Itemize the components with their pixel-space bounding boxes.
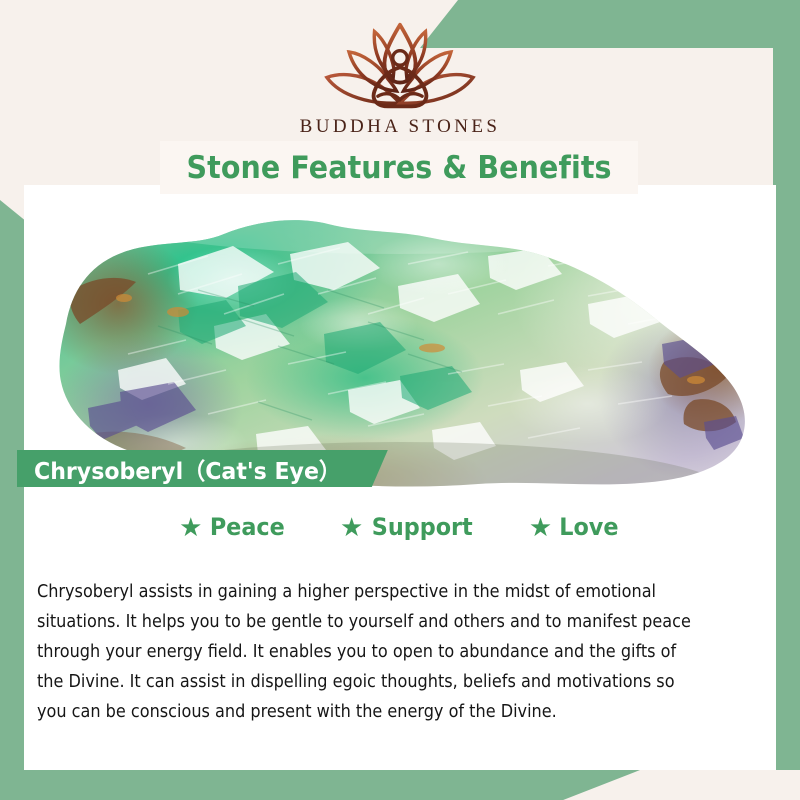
star-icon: ★ [340,514,363,540]
star-icon: ★ [179,514,202,540]
benefit-label: Support [372,513,473,541]
title-banner: Stone Features & Benefits [160,141,638,194]
benefit-item-love: ★ Love [529,513,621,541]
benefit-label: Love [559,513,618,541]
frame-accent-bottom [0,770,640,800]
benefit-item-support: ★ Support [340,513,477,541]
brand-name: BUDDHA STONES [0,116,800,138]
page-title: Stone Features & Benefits [186,150,611,186]
star-icon: ★ [529,514,552,540]
benefits-row: ★ Peace ★ Support ★ Love [24,513,776,541]
stone-benefits-poster: BUDDHA STONES [0,0,800,800]
benefit-label: Peace [210,513,285,541]
description-paragraph: Chrysoberyl assists in gaining a higher … [37,577,703,727]
stone-name-label: Chrysoberyl（Cat's Eye） [17,450,388,487]
stone-photo [28,194,773,494]
brand-header: BUDDHA STONES [0,18,800,138]
frame-accent-left [0,200,27,780]
stone-name-text: Chrysoberyl（Cat's Eye） [34,452,341,486]
lotus-meditation-logo-icon [315,18,485,114]
benefit-item-peace: ★ Peace [179,513,288,541]
